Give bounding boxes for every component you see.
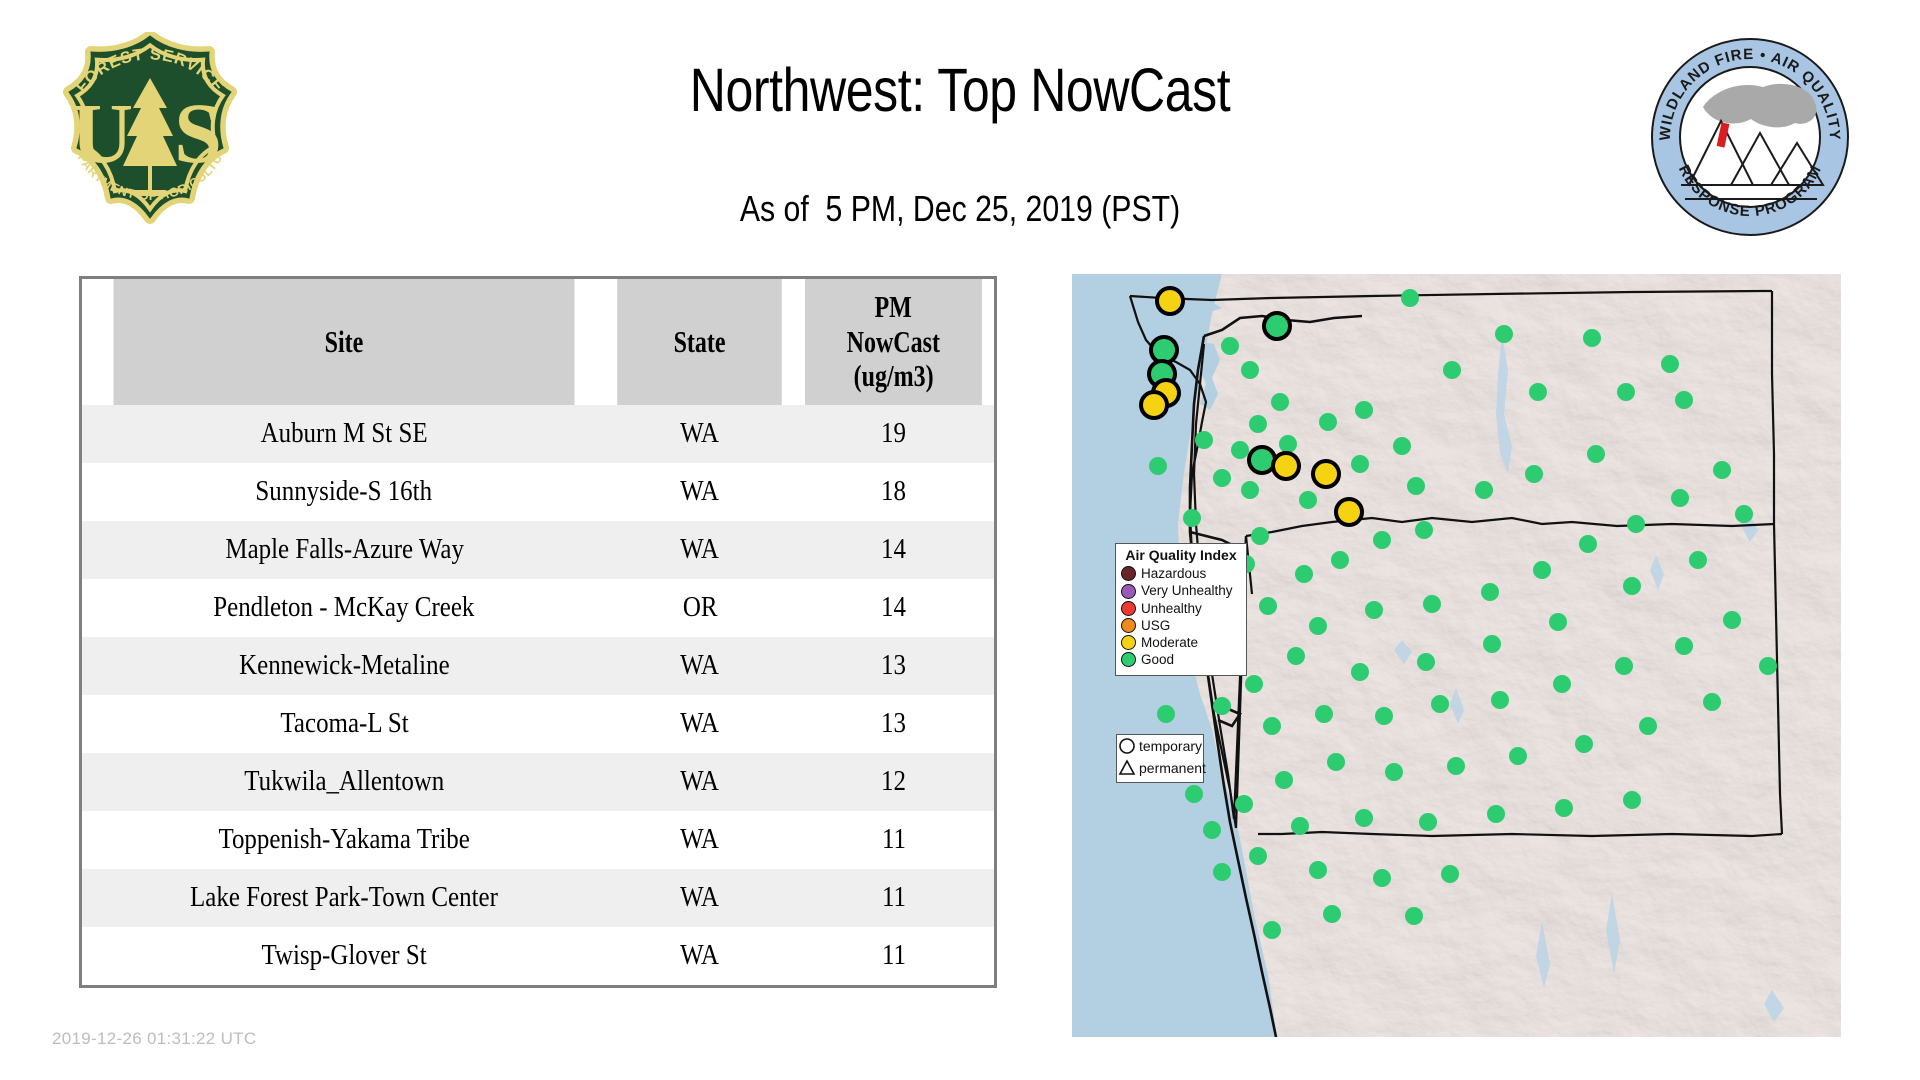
aqi-legend-item: Very Unhealthy [1121, 583, 1241, 600]
cell-pm-nowcast: 11 [793, 927, 994, 985]
aqi-legend-item: Hazardous [1121, 565, 1241, 582]
generated-timestamp: 2019-12-26 01:31:22 UTC [52, 1029, 256, 1049]
cell-site: Maple Falls-Azure Way [82, 521, 606, 579]
cell-state-text: WA [680, 650, 719, 682]
cell-state-text: WA [680, 534, 719, 566]
cell-state: WA [606, 405, 793, 463]
cell-site-text: Twisp-Glover St [262, 940, 427, 972]
cell-pm-nowcast: 14 [793, 579, 994, 637]
cell-state: WA [606, 695, 793, 753]
cell-site: Lake Forest Park-Town Center [82, 869, 606, 927]
aqi-legend-item-label: Good [1141, 653, 1174, 667]
cell-state-text: OR [683, 592, 718, 624]
column-header-state: State [618, 279, 783, 405]
usfs-shield-icon: U S FOREST SERVICE DEPARTMENT OF AGRICUL… [55, 32, 245, 242]
table-row: Maple Falls-Azure WayWA14 [82, 521, 994, 579]
cell-pm-nowcast-text: 14 [881, 534, 906, 566]
site-type-permanent-label: permanent [1139, 760, 1206, 776]
cell-pm-nowcast-text: 13 [881, 708, 906, 740]
cell-state-text: WA [680, 418, 719, 450]
aqi-legend-item-label: Unhealthy [1141, 602, 1202, 616]
cell-pm-nowcast-text: 19 [881, 418, 906, 450]
table-row: Tukwila_AllentownWA12 [82, 753, 994, 811]
cell-state: WA [606, 869, 793, 927]
cell-pm-nowcast: 11 [793, 869, 994, 927]
cell-site: Twisp-Glover St [82, 927, 606, 985]
aqi-legend-item-label: Moderate [1141, 636, 1198, 650]
cell-site-text: Tukwila_Allentown [244, 766, 444, 798]
aqi-legend-item: Good [1121, 651, 1241, 668]
cell-state: WA [606, 811, 793, 869]
aqi-swatch-icon [1121, 566, 1136, 581]
highlighted-site-marker[interactable] [1157, 288, 1183, 314]
aqi-swatch-icon [1121, 652, 1136, 667]
cell-state-text: WA [680, 476, 719, 508]
aqi-legend-item-label: Very Unhealthy [1141, 584, 1233, 598]
table-row: Lake Forest Park-Town CenterWA11 [82, 869, 994, 927]
page-subtitle: As of 5 PM, Dec 25, 2019 (PST) [406, 190, 1515, 228]
cell-pm-nowcast-text: 14 [881, 592, 906, 624]
highlighted-site-marker[interactable] [1249, 447, 1275, 473]
cell-pm-nowcast: 18 [793, 463, 994, 521]
aqi-swatch-icon [1121, 618, 1136, 633]
highlighted-site-marker[interactable] [1141, 392, 1167, 418]
cell-site-text: Sunnyside-S 16th [256, 476, 433, 508]
cell-site: Sunnyside-S 16th [82, 463, 606, 521]
site-type-permanent: permanent [1117, 757, 1203, 779]
map-landmass [1178, 274, 1841, 1037]
cell-site-text: Pendleton - McKay Creek [214, 592, 475, 624]
table-row: Sunnyside-S 16thWA18 [82, 463, 994, 521]
cell-state-text: WA [680, 940, 719, 972]
cell-site: Tukwila_Allentown [82, 753, 606, 811]
cell-state: WA [606, 637, 793, 695]
highlighted-site-marker[interactable] [1151, 337, 1177, 363]
table-row: Auburn M St SEWA19 [82, 405, 994, 463]
cell-pm-nowcast-text: 12 [881, 766, 906, 798]
aqi-legend-item-label: USG [1141, 619, 1170, 633]
cell-pm-nowcast: 14 [793, 521, 994, 579]
cell-state: OR [606, 579, 793, 637]
cell-pm-nowcast: 19 [793, 405, 994, 463]
cell-site: Auburn M St SE [82, 405, 606, 463]
cell-state-text: WA [680, 824, 719, 856]
wildland-fire-air-quality-icon: WILDLAND FIRE • AIR QUALITY RESPONSE PRO… [1645, 35, 1855, 240]
aqi-legend-item: Unhealthy [1121, 600, 1241, 617]
northwest-aqi-map[interactable]: Air Quality Index HazardousVery Unhealth… [1072, 274, 1841, 1037]
aqi-swatch-icon [1121, 601, 1136, 616]
column-header-pm-line1: PM [875, 290, 912, 325]
cell-site-text: Maple Falls-Azure Way [225, 534, 464, 566]
column-header-site-label: Site [325, 325, 364, 360]
cell-state: WA [606, 753, 793, 811]
triangle-icon [1117, 758, 1137, 778]
highlighted-site-marker[interactable] [1273, 453, 1299, 479]
aqi-legend: Air Quality Index HazardousVery Unhealth… [1115, 543, 1247, 676]
cell-state: WA [606, 463, 793, 521]
aqi-legend-item: Moderate [1121, 634, 1241, 651]
cell-pm-nowcast-text: 13 [881, 650, 906, 682]
cell-pm-nowcast-text: 11 [882, 940, 906, 972]
cell-pm-nowcast: 13 [793, 637, 994, 695]
column-header-pm-nowcast: PM NowCast (ug/m3) [805, 279, 982, 405]
column-header-pm-line3: (ug/m3) [854, 359, 934, 394]
aqi-legend-title: Air Quality Index [1121, 548, 1241, 563]
cell-state-text: WA [680, 882, 719, 914]
nowcast-table: Site State PM NowCast (ug/m3) Auburn M S… [79, 276, 997, 988]
cell-state: WA [606, 927, 793, 985]
cell-pm-nowcast: 13 [793, 695, 994, 753]
aqi-legend-item-label: Hazardous [1141, 567, 1206, 581]
cell-state: WA [606, 521, 793, 579]
cell-site: Toppenish-Yakama Tribe [82, 811, 606, 869]
table-row: Twisp-Glover StWA11 [82, 927, 994, 985]
aqi-swatch-icon [1121, 584, 1136, 599]
cell-pm-nowcast-text: 18 [881, 476, 906, 508]
page-title: Northwest: Top NowCast [419, 58, 1501, 122]
column-header-site: Site [113, 279, 574, 405]
aqi-legend-item: USG [1121, 617, 1241, 634]
table-row: Kennewick-MetalineWA13 [82, 637, 994, 695]
cell-site-text: Lake Forest Park-Town Center [190, 882, 498, 914]
highlighted-site-marker[interactable] [1264, 313, 1290, 339]
cell-pm-nowcast-text: 11 [882, 882, 906, 914]
table-row: Pendleton - McKay CreekOR14 [82, 579, 994, 637]
cell-pm-nowcast: 12 [793, 753, 994, 811]
aqi-swatch-icon [1121, 635, 1136, 650]
site-type-temporary: temporary [1117, 735, 1203, 757]
cell-site: Pendleton - McKay Creek [82, 579, 606, 637]
table-row: Tacoma-L StWA13 [82, 695, 994, 753]
column-header-pm-line2: NowCast [847, 325, 940, 360]
cell-site: Kennewick-Metaline [82, 637, 606, 695]
cell-site-text: Kennewick-Metaline [239, 650, 450, 682]
cell-site: Tacoma-L St [82, 695, 606, 753]
table-header-row: Site State PM NowCast (ug/m3) [82, 279, 994, 405]
table-row: Toppenish-Yakama TribeWA11 [82, 811, 994, 869]
cell-pm-nowcast-text: 11 [882, 824, 906, 856]
cell-site-text: Tacoma-L St [280, 708, 408, 740]
site-type-temporary-label: temporary [1139, 738, 1202, 754]
site-type-legend: temporary permanent [1116, 734, 1204, 783]
cell-site-text: Toppenish-Yakama Tribe [219, 824, 470, 856]
cell-pm-nowcast: 11 [793, 811, 994, 869]
column-header-state-label: State [674, 325, 726, 360]
cell-site-text: Auburn M St SE [261, 418, 428, 450]
circle-icon [1117, 736, 1137, 756]
cell-state-text: WA [680, 766, 719, 798]
highlighted-site-marker[interactable] [1313, 461, 1339, 487]
cell-state-text: WA [680, 708, 719, 740]
highlighted-site-marker[interactable] [1336, 499, 1362, 525]
